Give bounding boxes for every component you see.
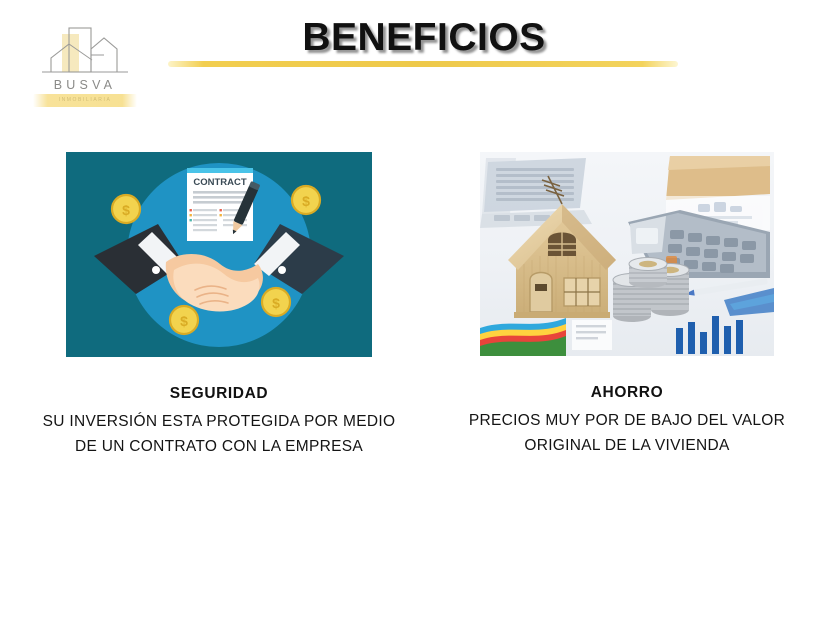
building-outline-icon: [20, 24, 150, 80]
benefit-image-house-savings: [480, 152, 774, 356]
svg-text:CONTRACT: CONTRACT: [193, 177, 246, 188]
benefit-card-seguridad: CONTRACT: [24, 152, 414, 459]
svg-text:$: $: [122, 202, 130, 218]
benefit-heading: AHORRO: [432, 384, 822, 402]
svg-text:$: $: [302, 193, 310, 209]
logo-tagline: INMOBILIARIA: [33, 95, 137, 106]
brand-logo: BUSVA INMOBILIARIA: [20, 24, 150, 112]
benefit-card-ahorro: AHORRO PRECIOS MUY POR DE BAJO DEL VALOR…: [432, 152, 822, 458]
benefit-caption-ahorro: AHORRO PRECIOS MUY POR DE BAJO DEL VALOR…: [432, 384, 822, 458]
svg-text:$: $: [180, 313, 188, 329]
title-underline-rule: [168, 61, 678, 67]
benefit-body: PRECIOS MUY POR DE BAJO DEL VALOR ORIGIN…: [432, 408, 822, 458]
benefit-heading: SEGURIDAD: [24, 385, 414, 403]
svg-text:$: $: [272, 295, 280, 311]
benefit-caption-seguridad: SEGURIDAD SU INVERSIÓN ESTA PROTEGIDA PO…: [24, 385, 414, 459]
logo-wordmark: BUSVA: [20, 78, 150, 92]
benefit-image-handshake: CONTRACT: [66, 152, 372, 357]
benefit-body: SU INVERSIÓN ESTA PROTEGIDA POR MEDIO DE…: [24, 409, 414, 459]
page-title: BENEFICIOS: [170, 16, 678, 60]
